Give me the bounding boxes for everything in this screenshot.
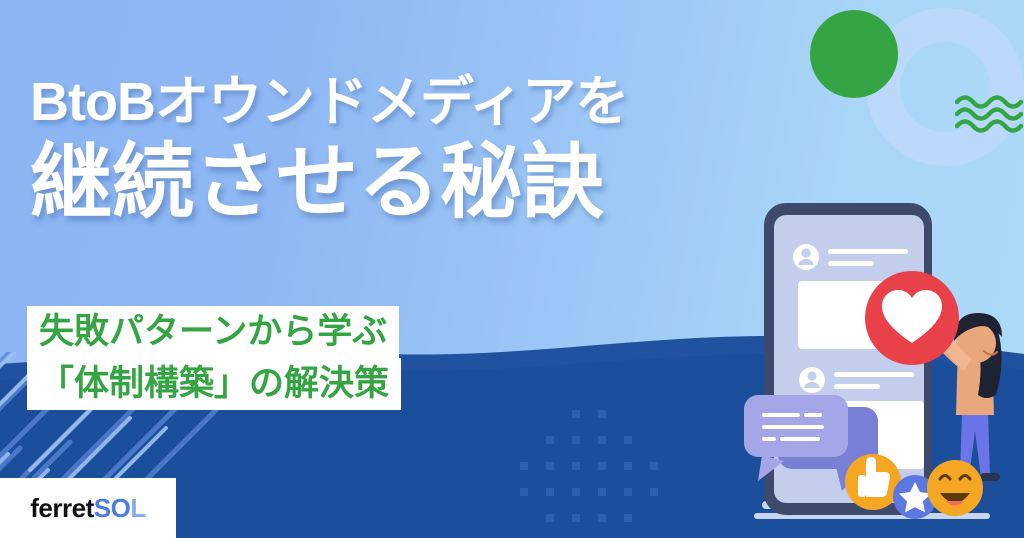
logo: ferretSOL <box>0 478 176 538</box>
dot-grid-decoration <box>500 408 690 538</box>
thumbs-up-reaction <box>845 454 901 510</box>
smiley-reaction <box>927 460 983 516</box>
headline-line-1: BtoBオウンドメディアを <box>30 72 770 132</box>
social-media-engagement-illustration <box>740 185 1024 538</box>
subheadline: 失敗パターンから学ぶ 「体制構築」の解決策 <box>27 306 401 410</box>
promo-banner: BtoBオウンドメディアを 継続させる秘訣 失敗パターンから学ぶ 「体制構築」の… <box>0 0 1024 538</box>
wavy-lines-decoration-icon <box>955 92 1024 134</box>
headline-line-2: 継続させる秘訣 <box>30 136 770 229</box>
subheadline-line-2: 「体制構築」の解決策 <box>27 358 401 410</box>
green-circle-decoration-icon <box>810 10 898 98</box>
logo-part-l: L <box>130 493 145 523</box>
logo-text: ferretSOL <box>30 493 145 524</box>
headline: BtoBオウンドメディアを 継続させる秘訣 <box>30 72 770 230</box>
heart-reaction-badge <box>865 271 959 365</box>
logo-part-o: O <box>111 493 131 523</box>
logo-part-s: S <box>94 493 111 523</box>
subheadline-line-1: 失敗パターンから学ぶ <box>27 306 399 358</box>
logo-part-ferret: ferret <box>30 493 93 523</box>
